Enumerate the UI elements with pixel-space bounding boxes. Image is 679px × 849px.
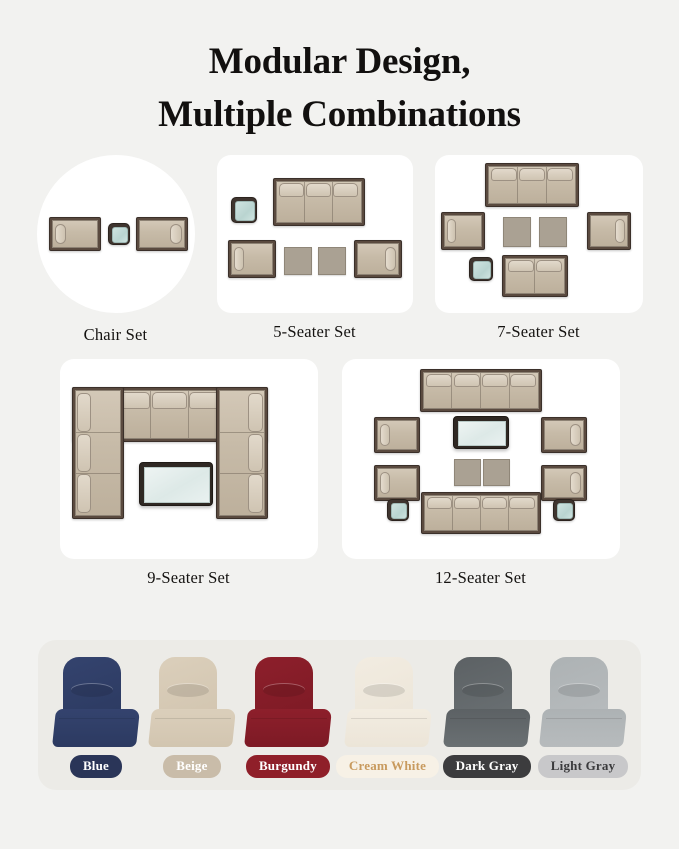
set-diagram-seven [435,155,643,313]
sofa-4seat-module [421,492,541,534]
chair-module [374,465,420,501]
color-swatch-burgundy[interactable]: Burgundy [240,648,336,790]
color-swatch-light-gray[interactable]: Light Gray [535,648,631,790]
cushion-preview [150,657,234,749]
chair-module [541,465,587,501]
cushion-base [52,709,140,747]
side-table-module [387,499,409,521]
cushion-base [443,709,531,747]
side-table-module [553,499,575,521]
set-diagram-twelve [342,359,620,559]
chair-module [354,240,402,278]
set-card-five[interactable]: 5-Seater Set [217,155,413,345]
chair-module [136,217,188,251]
sofa-3seat-module [273,178,365,226]
cushion-preview [246,657,330,749]
coffee-table-module [139,462,213,506]
set-label-chair: Chair Set [84,325,148,345]
set-diagram-chair [37,155,195,313]
page-title: Modular Design, Multiple Combinations [0,0,679,141]
coffee-table-module [453,416,509,449]
cushion-base [539,709,627,747]
ottoman-module [503,217,531,247]
color-swatch-dark-gray[interactable]: Dark Gray [439,648,535,790]
sofa-3seat-module [485,163,579,207]
set-label-five: 5-Seater Set [273,322,356,342]
color-label: Light Gray [538,755,628,778]
sofa-2seat-module [502,255,568,297]
ottoman-module [284,247,312,275]
set-label-twelve: 12-Seater Set [435,568,526,588]
set-card-seven[interactable]: 7-Seater Set [435,155,643,345]
color-swatch-beige[interactable]: Beige [144,648,240,790]
cushion-preview [346,657,430,749]
set-card-nine[interactable]: 9-Seater Set [60,359,318,588]
chair-module [441,212,485,250]
chair-module [374,417,420,453]
side-table-module [469,257,493,281]
ottoman-module [483,459,510,486]
side-table-module [108,223,130,245]
set-label-nine: 9-Seater Set [147,568,230,588]
cushion-base [344,709,432,747]
color-label: Dark Gray [443,755,532,778]
set-diagram-nine [60,359,318,559]
color-swatch-cream-white[interactable]: Cream White [336,648,439,790]
cushion-base [148,709,236,747]
set-card-chair[interactable]: Chair Set [37,155,195,345]
cushion-preview [54,657,138,749]
ottoman-module [318,247,346,275]
chair-module [228,240,276,278]
sectional-right-run [216,387,268,519]
configuration-row-2: 9-Seater Set [0,359,679,588]
title-line-2: Multiple Combinations [0,89,679,142]
sectional-left-run [72,387,124,519]
side-table-module [231,197,257,223]
set-diagram-five [217,155,413,313]
cushion-preview [541,657,625,749]
chair-module [541,417,587,453]
ottoman-module [454,459,481,486]
chair-module [49,217,101,251]
color-label: Burgundy [246,755,330,778]
cushion-base [244,709,332,747]
chair-module [587,212,631,250]
configuration-row-1: Chair Set 5-Seater Set [0,155,679,345]
set-card-twelve[interactable]: 12-Seater Set [342,359,620,588]
title-line-1: Modular Design, [209,41,471,82]
color-label: Cream White [336,755,439,778]
ottoman-module [539,217,567,247]
sofa-4seat-module [420,369,542,412]
set-label-seven: 7-Seater Set [497,322,580,342]
color-swatch-list: Blue Beige Burgundy Cream White [38,640,641,790]
configuration-gallery: Chair Set 5-Seater Set [0,155,679,588]
color-label: Blue [70,755,122,778]
color-options-panel: Blue Beige Burgundy Cream White [38,640,641,790]
cushion-preview [445,657,529,749]
color-swatch-blue[interactable]: Blue [48,648,144,790]
color-label: Beige [163,755,220,778]
